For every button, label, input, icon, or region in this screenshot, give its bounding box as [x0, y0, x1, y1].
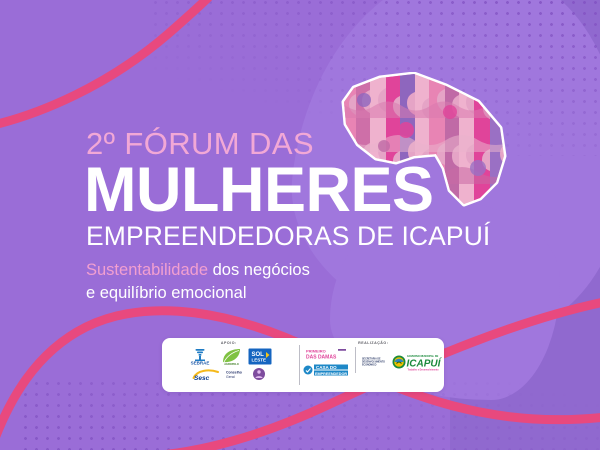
- main-title: MULHERES: [84, 160, 484, 220]
- apoio-logo-row-2: Sesc Conselho Geral: [192, 367, 266, 382]
- svg-text:DAS DAMAS: DAS DAMAS: [306, 354, 337, 360]
- realizacao-label: REALIZAÇÃO:: [358, 341, 388, 345]
- tagline-line2: e equilíbrio emocional: [86, 284, 247, 302]
- svg-text:PRIMEIRO: PRIMEIRO: [306, 348, 326, 353]
- realizacao-logo-row: PRIMEIRO DAS DAMAS CASA DO EMPREEND: [303, 347, 444, 377]
- apoio-circle-logo: [252, 367, 266, 381]
- apoio-label: APOIO:: [221, 341, 237, 345]
- svg-text:CASA DO: CASA DO: [316, 364, 337, 369]
- realizacao-inner-divider: [355, 347, 356, 373]
- secretaria-logo: SECRETARIA DE DESENVOLVIMENTO ECONOMICO: [362, 356, 388, 368]
- conselho-logo: Conselho Geral: [226, 368, 248, 381]
- svg-text:AGROPOLO: AGROPOLO: [225, 363, 240, 366]
- realizacao-group: REALIZAÇÃO: PRIMEIRO DAS DAMAS: [303, 338, 444, 392]
- svg-text:GOVERNO MUNICIPAL DE: GOVERNO MUNICIPAL DE: [407, 355, 439, 358]
- secondary-title: EMPREENDEDORAS DE ICAPUÍ: [86, 223, 484, 250]
- svg-text:EMPREENDEDOR: EMPREENDEDOR: [315, 371, 347, 375]
- primeiro-das-damas-logo: PRIMEIRO DAS DAMAS: [303, 347, 349, 361]
- sesc-logo: Sesc: [192, 367, 222, 382]
- svg-text:ICAPUÍ: ICAPUÍ: [406, 356, 442, 369]
- headline-block: 2º FÓRUM DAS MULHERES EMPREENDEDORAS DE …: [84, 128, 484, 250]
- casa-do-empreendedor-logo: CASA DO EMPREENDEDOR: [303, 363, 349, 377]
- svg-text:LESTE: LESTE: [252, 357, 267, 362]
- svg-text:Sesc: Sesc: [194, 375, 210, 382]
- svg-text:ECONOMICO: ECONOMICO: [362, 364, 377, 366]
- pink-swoosh-top: [0, 0, 236, 128]
- apoio-logo-rows: SEBRAE AGROPOLO SOL: [185, 347, 272, 382]
- apoio-group: APOIO: SEBRAE: [162, 338, 296, 392]
- sponsors-card: APOIO: SEBRAE: [162, 338, 444, 392]
- tagline: Sustentabilidade dos negócios e equilíbr…: [86, 259, 466, 306]
- svg-text:SEBRAE: SEBRAE: [191, 360, 210, 365]
- tagline-highlight: Sustentabilidade: [86, 261, 208, 279]
- poster-canvas: 2º FÓRUM DAS MULHERES EMPREENDEDORAS DE …: [0, 0, 600, 450]
- svg-text:SECRETARIA DE: SECRETARIA DE: [362, 357, 381, 360]
- svg-text:Geral: Geral: [226, 375, 235, 379]
- prefeitura-icapui-logo: GOVERNO MUNICIPAL DE ICAPUÍ Trabalho e D…: [392, 351, 444, 373]
- card-divider: [299, 345, 300, 385]
- svg-text:Conselho: Conselho: [226, 370, 242, 374]
- tagline-rest: dos negócios: [208, 261, 310, 279]
- sebrae-logo: SEBRAE: [185, 348, 215, 365]
- map-profile-column-6: [490, 72, 508, 212]
- realizacao-left-stack: PRIMEIRO DAS DAMAS CASA DO EMPREEND: [303, 347, 349, 377]
- sol-leste-logo: SOL LESTE: [248, 347, 272, 366]
- svg-text:DESENVOLVIMENTO: DESENVOLVIMENTO: [362, 361, 385, 363]
- agropolo-logo: AGROPOLO: [219, 347, 244, 366]
- apoio-logo-row-1: SEBRAE AGROPOLO SOL: [185, 347, 272, 366]
